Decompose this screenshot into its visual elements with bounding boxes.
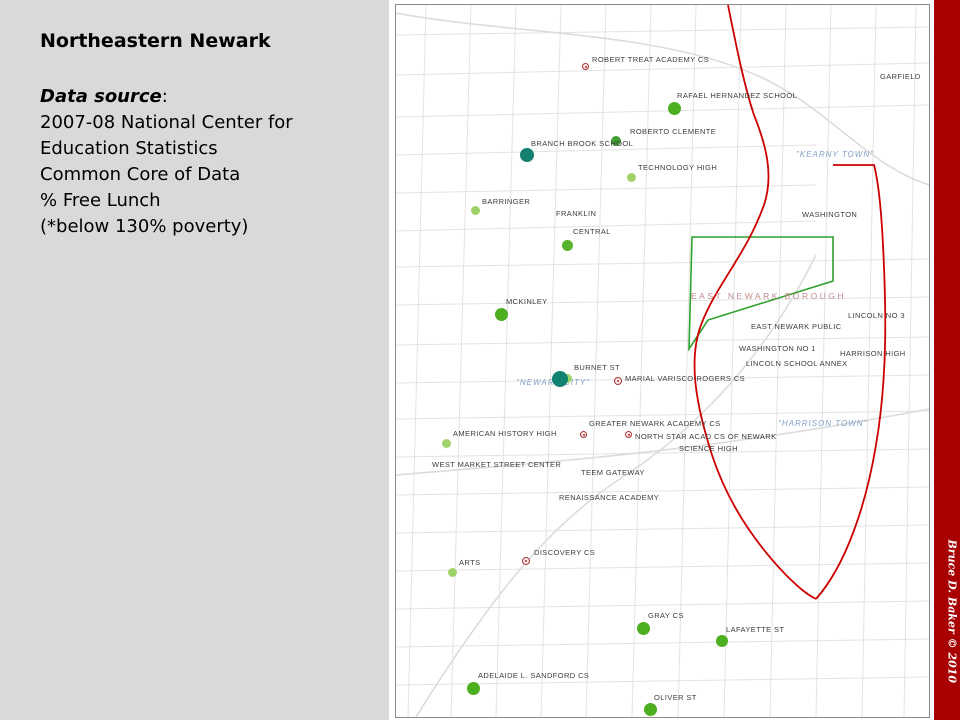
school-label-arts: ARTS xyxy=(459,558,480,567)
school-marker-lafayette-st[interactable] xyxy=(716,635,728,647)
school-label-adelaide-l-sandford-cs: ADELAIDE L. SANDFORD CS xyxy=(478,671,589,680)
school-marker-american-history-high[interactable] xyxy=(442,439,451,448)
school-marker-arts[interactable] xyxy=(448,568,457,577)
school-marker-branch-brook-school[interactable] xyxy=(520,148,534,162)
school-label-barringer: BARRINGER xyxy=(482,197,530,206)
school-label-franklin: FRANKLIN xyxy=(556,209,596,218)
school-label-oliver-st: OLIVER ST xyxy=(654,693,697,702)
info-panel: Northeastern Newark Data source: 2007-08… xyxy=(0,0,389,720)
school-marker-newark-large[interactable] xyxy=(552,371,568,387)
page-title: Northeastern Newark xyxy=(40,30,271,52)
data-source-colon: : xyxy=(162,86,168,107)
source-line-3: % Free Lunch xyxy=(40,188,370,214)
source-line-2: Common Core of Data xyxy=(40,162,370,188)
school-label-lincoln-no-3: LINCOLN NO 3 xyxy=(848,311,905,320)
school-label-burnet-st: BURNET ST xyxy=(574,363,620,372)
school-label-roberto-clemente: ROBERTO CLEMENTE xyxy=(630,127,716,136)
data-source-block: Data source: 2007-08 National Center for… xyxy=(40,84,370,240)
school-marker-technology-high[interactable] xyxy=(627,173,636,182)
school-marker-mckinley[interactable] xyxy=(495,308,508,321)
school-label-lafayette-st: LAFAYETTE ST xyxy=(726,625,784,634)
place-label-east-newark-borough: EAST NEWARK BOROUGH xyxy=(691,291,846,301)
school-label-greater-newark-academy-cs: GREATER NEWARK ACADEMY CS xyxy=(589,419,721,428)
school-label-branch-brook-school: BRANCH BROOK SCHOOL xyxy=(531,139,633,148)
school-label-lincoln-school-annex: LINCOLN SCHOOL ANNEX xyxy=(746,359,848,368)
school-label-west-market-street-center: WEST MARKET STREET CENTER xyxy=(432,460,561,469)
school-marker-gray-cs[interactable] xyxy=(637,622,650,635)
school-marker-barringer[interactable] xyxy=(471,206,480,215)
credit-text: Bruce D. Baker © 2010 xyxy=(946,540,959,690)
map-panel: "KEARNY TOWN" "NEWARK CITY" "HARRISON TO… xyxy=(389,0,934,720)
school-label-harrison-high: HARRISON HIGH xyxy=(840,349,906,358)
school-label-american-history-high: AMERICAN HISTORY HIGH xyxy=(453,429,557,438)
school-marker-adelaide-l-sandford-cs[interactable] xyxy=(467,682,480,695)
school-label-mckinley: MCKINLEY xyxy=(506,297,548,306)
data-source-label: Data source xyxy=(40,86,162,107)
source-line-1: Education Statistics xyxy=(40,136,370,162)
place-label-harrison: "HARRISON TOWN" xyxy=(778,419,867,428)
school-label-marial-varisco-rogers-cs: MARIAL VARISCO-ROGERS CS xyxy=(625,374,745,383)
school-marker-central[interactable] xyxy=(562,240,573,251)
school-label-garfield: GARFIELD xyxy=(880,72,921,81)
school-label-washington: WASHINGTON xyxy=(802,210,857,219)
source-line-4: (*below 130% poverty) xyxy=(40,214,370,240)
school-label-renaissance-academy: RENAISSANCE ACADEMY xyxy=(559,493,659,502)
school-label-east-newark-public: EAST NEWARK PUBLIC xyxy=(751,322,842,331)
school-label-gray-cs: GRAY CS xyxy=(648,611,684,620)
school-label-central: CENTRAL xyxy=(573,227,611,236)
map-canvas[interactable]: "KEARNY TOWN" "NEWARK CITY" "HARRISON TO… xyxy=(395,4,930,718)
credit-block: Bruce D. Baker © 2010 xyxy=(934,0,960,720)
school-marker-marial-varisco-rogers-cs[interactable] xyxy=(614,377,622,385)
source-line-0: 2007-08 National Center for xyxy=(40,110,370,136)
school-marker-north-star-acad-cs-of-newark[interactable] xyxy=(625,431,632,438)
school-marker-rafael-hernandez-school[interactable] xyxy=(668,102,681,115)
school-marker-robert-treat-academy-cs[interactable] xyxy=(582,63,589,70)
school-label-north-star-acad-cs-of-newark: NORTH STAR ACAD CS OF NEWARK xyxy=(635,432,777,441)
school-label-teem-gateway: TEEM GATEWAY xyxy=(581,468,645,477)
school-label-robert-treat-academy-cs: ROBERT TREAT ACADEMY CS xyxy=(592,55,709,64)
school-label-washington-no-1: WASHINGTON NO 1 xyxy=(739,344,816,353)
school-marker-discovery-cs[interactable] xyxy=(522,557,530,565)
school-label-technology-high: TECHNOLOGY HIGH xyxy=(638,163,717,172)
school-marker-oliver-st[interactable] xyxy=(644,703,657,716)
school-label-rafael-hernandez-school: RAFAEL HERNANDEZ SCHOOL xyxy=(677,91,797,100)
school-marker-greater-newark-academy-cs[interactable] xyxy=(580,431,587,438)
school-label-discovery-cs: DISCOVERY CS xyxy=(534,548,595,557)
school-label-science-high: SCIENCE HIGH xyxy=(679,444,738,453)
place-label-kearny: "KEARNY TOWN" xyxy=(796,150,874,159)
